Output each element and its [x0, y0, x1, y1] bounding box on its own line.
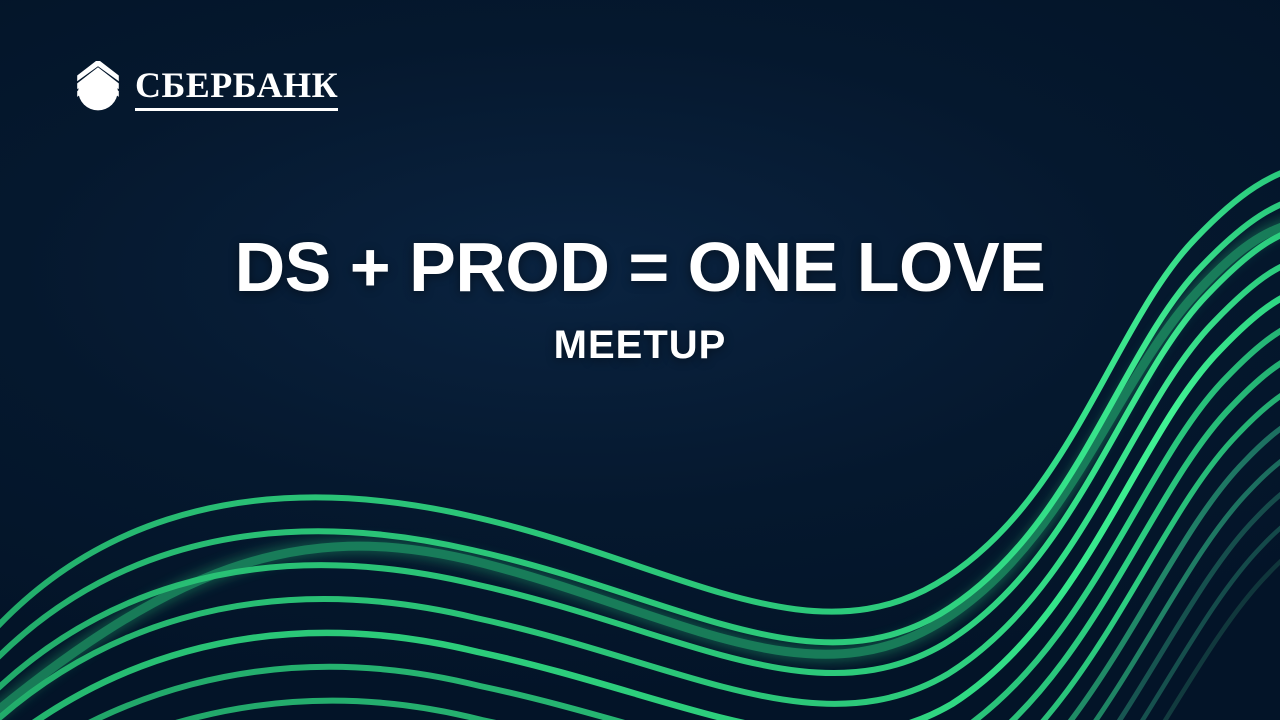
sberbank-wordmark: СБЕРБАНК — [135, 67, 338, 103]
sberbank-chevron-circle-icon — [72, 61, 124, 113]
sberbank-logo: СБЕРБАНК — [72, 58, 338, 116]
slide-title: DS + PROD = ONE LOVE — [0, 228, 1280, 306]
sberbank-wordmark-block: СБЕРБАНК — [135, 64, 338, 111]
headline-block: DS + PROD = ONE LOVE MEETUP — [0, 228, 1280, 368]
wordmark-underline — [135, 108, 338, 111]
title-slide: СБЕРБАНК DS + PROD = ONE LOVE MEETUP — [0, 0, 1280, 720]
slide-subtitle: MEETUP — [0, 322, 1280, 368]
